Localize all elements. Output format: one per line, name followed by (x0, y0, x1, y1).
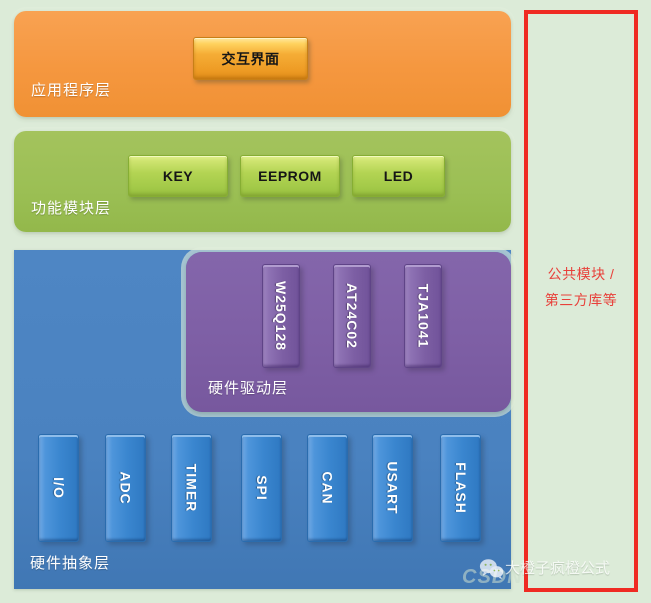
module-led-label: LED (384, 168, 414, 184)
module-adc-label: ADC (118, 471, 134, 504)
architecture-diagram: 应用程序层 交互界面 功能模块层 KEY EEPROM LED 硬件抽象层 硬件… (0, 0, 651, 603)
module-eeprom-label: EEPROM (258, 168, 322, 184)
layer-hardware-abstraction-label: 硬件抽象层 (30, 552, 110, 573)
module-tja1041[interactable]: TJA1041 (404, 264, 442, 368)
common-modules-text: 公共模块 / 第三方库等 (528, 261, 634, 313)
common-modules-line-2: 第三方库等 (528, 287, 634, 313)
module-interactive-ui-label: 交互界面 (222, 49, 280, 69)
layer-application-label: 应用程序层 (31, 79, 111, 100)
module-io-label: I/O (50, 477, 66, 499)
module-key[interactable]: KEY (128, 155, 228, 197)
module-can-label: CAN (320, 471, 336, 504)
module-spi-label: SPI (253, 475, 269, 501)
module-flash[interactable]: FLASH (440, 434, 481, 542)
module-spi[interactable]: SPI (241, 434, 282, 542)
module-timer[interactable]: TIMER (171, 434, 212, 542)
module-timer-label: TIMER (184, 464, 200, 513)
author-watermark: 大橙子疯橙公式 (505, 557, 610, 578)
module-w25q128[interactable]: W25Q128 (262, 264, 300, 368)
module-flash-label: FLASH (453, 462, 469, 514)
module-at24c02-label: AT24C02 (344, 283, 360, 349)
module-tja1041-label: TJA1041 (415, 284, 431, 349)
common-modules-line-1: 公共模块 / (528, 261, 634, 287)
module-usart[interactable]: USART (372, 434, 413, 542)
module-w25q128-label: W25Q128 (273, 281, 289, 351)
common-modules-column: 公共模块 / 第三方库等 (524, 10, 638, 592)
layer-function-module-label: 功能模块层 (31, 197, 111, 218)
layer-hardware-driver-label: 硬件驱动层 (208, 377, 288, 398)
module-io[interactable]: I/O (38, 434, 79, 542)
module-led[interactable]: LED (352, 155, 445, 197)
module-interactive-ui[interactable]: 交互界面 (193, 37, 308, 80)
module-at24c02[interactable]: AT24C02 (333, 264, 371, 368)
module-adc[interactable]: ADC (105, 434, 146, 542)
module-usart-label: USART (385, 461, 401, 514)
module-eeprom[interactable]: EEPROM (240, 155, 340, 197)
module-can[interactable]: CAN (307, 434, 348, 542)
module-key-label: KEY (163, 168, 193, 184)
wechat-icon (479, 558, 505, 580)
